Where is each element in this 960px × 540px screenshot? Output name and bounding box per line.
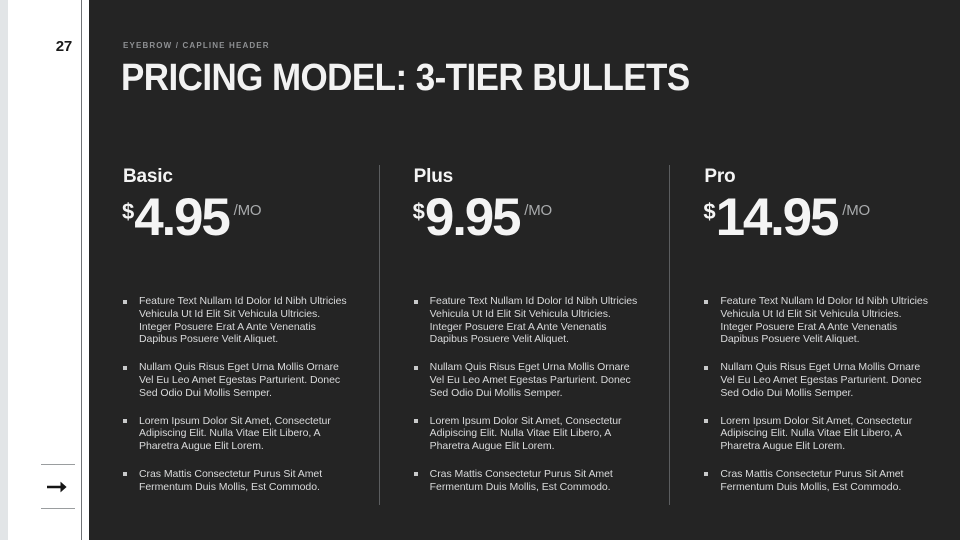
list-item: Feature Text Nullam Id Dolor Id Nibh Ult…	[414, 295, 640, 346]
slide-canvas: 27 EYEBROW / CAPLINE HEADER PRICING MODE…	[0, 0, 960, 540]
arrow-right-icon	[47, 480, 69, 494]
tier-name: Basic	[123, 165, 349, 189]
left-edge-strip	[0, 0, 8, 540]
price-period: /MO	[234, 203, 262, 218]
tier-name: Plus	[414, 165, 640, 189]
list-item: Cras Mattis Consectetur Purus Sit Amet F…	[414, 468, 640, 494]
price-period: /MO	[524, 203, 552, 218]
pricing-column-basic: Basic $ 4.95 /MO Feature Text Nullam Id …	[89, 165, 379, 505]
currency-symbol: $	[122, 201, 134, 223]
page-number: 27	[38, 38, 72, 55]
feature-list: Feature Text Nullam Id Dolor Id Nibh Ult…	[414, 295, 640, 494]
list-item: Lorem Ipsum Dolor Sit Amet, Consectetur …	[123, 415, 349, 453]
eyebrow-label: EYEBROW / CAPLINE HEADER	[123, 41, 270, 50]
currency-symbol: $	[703, 201, 715, 223]
rail-divider-line	[81, 0, 82, 540]
slide-stage: EYEBROW / CAPLINE HEADER PRICING MODEL: …	[89, 0, 960, 540]
list-item: Lorem Ipsum Dolor Sit Amet, Consectetur …	[414, 415, 640, 453]
next-slide-button[interactable]	[41, 464, 75, 509]
price-period: /MO	[842, 203, 870, 218]
left-rail: 27	[8, 0, 89, 540]
list-item: Feature Text Nullam Id Dolor Id Nibh Ult…	[123, 295, 349, 346]
price-row: $ 14.95 /MO	[703, 191, 930, 253]
page-title: PRICING MODEL: 3-TIER BULLETS	[121, 55, 690, 101]
list-item: Nullam Quis Risus Eget Urna Mollis Ornar…	[414, 361, 640, 399]
price-amount: 9.95	[425, 191, 519, 244]
currency-symbol: $	[413, 201, 425, 223]
price-row: $ 9.95 /MO	[413, 191, 640, 253]
price-row: $ 4.95 /MO	[122, 191, 349, 253]
pricing-column-plus: Plus $ 9.95 /MO Feature Text Nullam Id D…	[379, 165, 670, 505]
list-item: Feature Text Nullam Id Dolor Id Nibh Ult…	[704, 295, 930, 346]
list-item: Nullam Quis Risus Eget Urna Mollis Ornar…	[704, 361, 930, 399]
pricing-column-pro: Pro $ 14.95 /MO Feature Text Nullam Id D…	[669, 165, 960, 505]
list-item: Nullam Quis Risus Eget Urna Mollis Ornar…	[123, 361, 349, 399]
price-amount: 4.95	[134, 191, 228, 244]
price-amount: 14.95	[716, 191, 838, 244]
feature-list: Feature Text Nullam Id Dolor Id Nibh Ult…	[704, 295, 930, 494]
pricing-columns: Basic $ 4.95 /MO Feature Text Nullam Id …	[89, 165, 960, 505]
list-item: Cras Mattis Consectetur Purus Sit Amet F…	[704, 468, 930, 494]
tier-name: Pro	[704, 165, 930, 189]
list-item: Cras Mattis Consectetur Purus Sit Amet F…	[123, 468, 349, 494]
list-item: Lorem Ipsum Dolor Sit Amet, Consectetur …	[704, 415, 930, 453]
feature-list: Feature Text Nullam Id Dolor Id Nibh Ult…	[123, 295, 349, 494]
